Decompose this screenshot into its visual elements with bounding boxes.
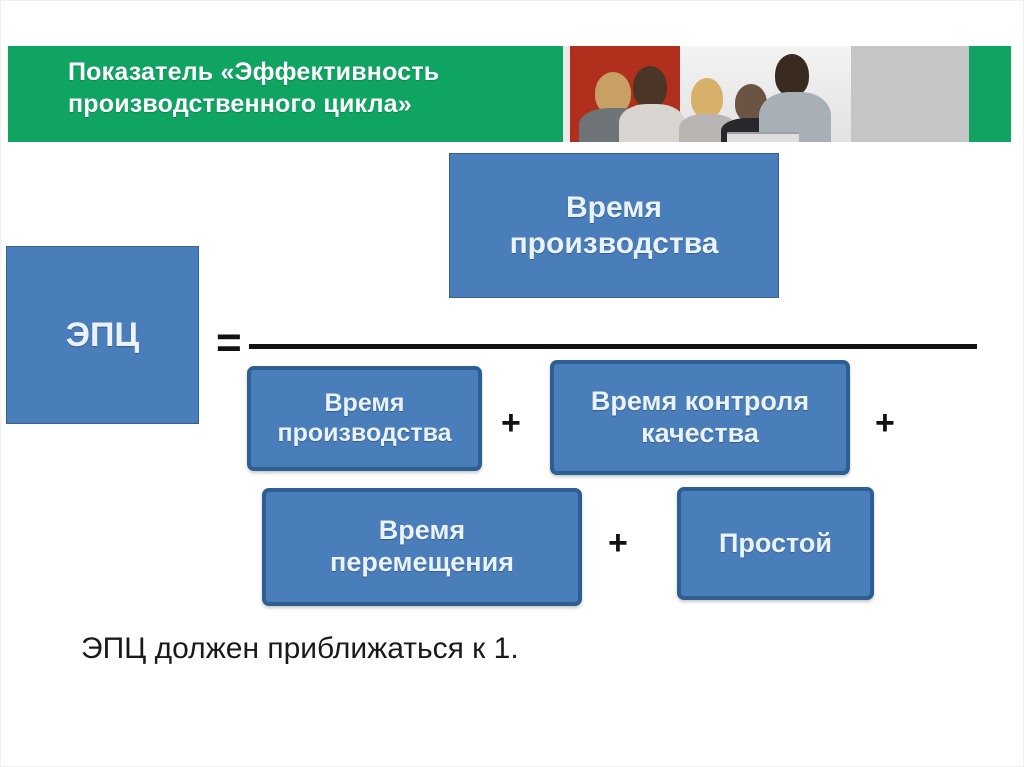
denominator-movement-time-box[interactable]: Время перемещения <box>262 488 582 606</box>
denominator-movement-line-2: перемещения <box>330 547 514 577</box>
header-green-right-block <box>969 46 1011 142</box>
formula-left-term-box[interactable]: ЭПЦ <box>6 246 199 424</box>
denominator-quality-control-label: Время контроля качества <box>591 386 809 450</box>
denominator-quality-line-2: качества <box>641 418 759 448</box>
photo-person-two-head <box>633 66 667 108</box>
page-title-line-2: производственного цикла» <box>68 88 548 120</box>
photo-person-five-head <box>775 54 809 96</box>
fraction-bar <box>249 344 977 349</box>
denominator-movement-time-label: Время перемещения <box>330 515 514 579</box>
denominator-production-time-box[interactable]: Время производства <box>247 366 482 471</box>
numerator-line-1: Время <box>566 191 662 224</box>
numerator-production-time-label: Время производства <box>510 190 719 261</box>
photo-person-three-head <box>691 78 723 118</box>
numerator-production-time-box[interactable]: Время производства <box>449 153 779 298</box>
denominator-production-time-label: Время производства <box>277 389 451 448</box>
denominator-movement-line-1: Время <box>379 515 465 545</box>
denominator-production-line-1: Время <box>325 389 405 417</box>
slide-caption: ЭПЦ должен приближаться к 1. <box>81 632 519 666</box>
photo-person-two-body <box>619 104 685 142</box>
denominator-idle-time-label: Простой <box>719 528 832 560</box>
page-title: Показатель «Эффективность производственн… <box>68 56 548 120</box>
equals-operator: = <box>216 321 242 365</box>
plus-operator-three: + <box>608 526 628 560</box>
denominator-quality-control-time-box[interactable]: Время контроля качества <box>550 360 850 475</box>
slide-canvas: Показатель «Эффективность производственн… <box>0 0 1024 767</box>
page-title-line-1: Показатель «Эффективность <box>68 56 548 88</box>
denominator-quality-line-1: Время контроля <box>591 386 809 416</box>
plus-operator-one: + <box>501 406 521 440</box>
slide-header-band: Показатель «Эффективность производственн… <box>8 46 1011 142</box>
header-photo-image <box>563 46 851 142</box>
denominator-production-line-2: производства <box>277 419 451 447</box>
photo-laptop <box>727 132 799 142</box>
plus-operator-two: + <box>875 406 895 440</box>
denominator-idle-time-box[interactable]: Простой <box>677 487 874 600</box>
numerator-line-2: производства <box>510 227 719 260</box>
header-gray-block <box>851 46 969 142</box>
formula-left-term-label: ЭПЦ <box>66 315 139 355</box>
